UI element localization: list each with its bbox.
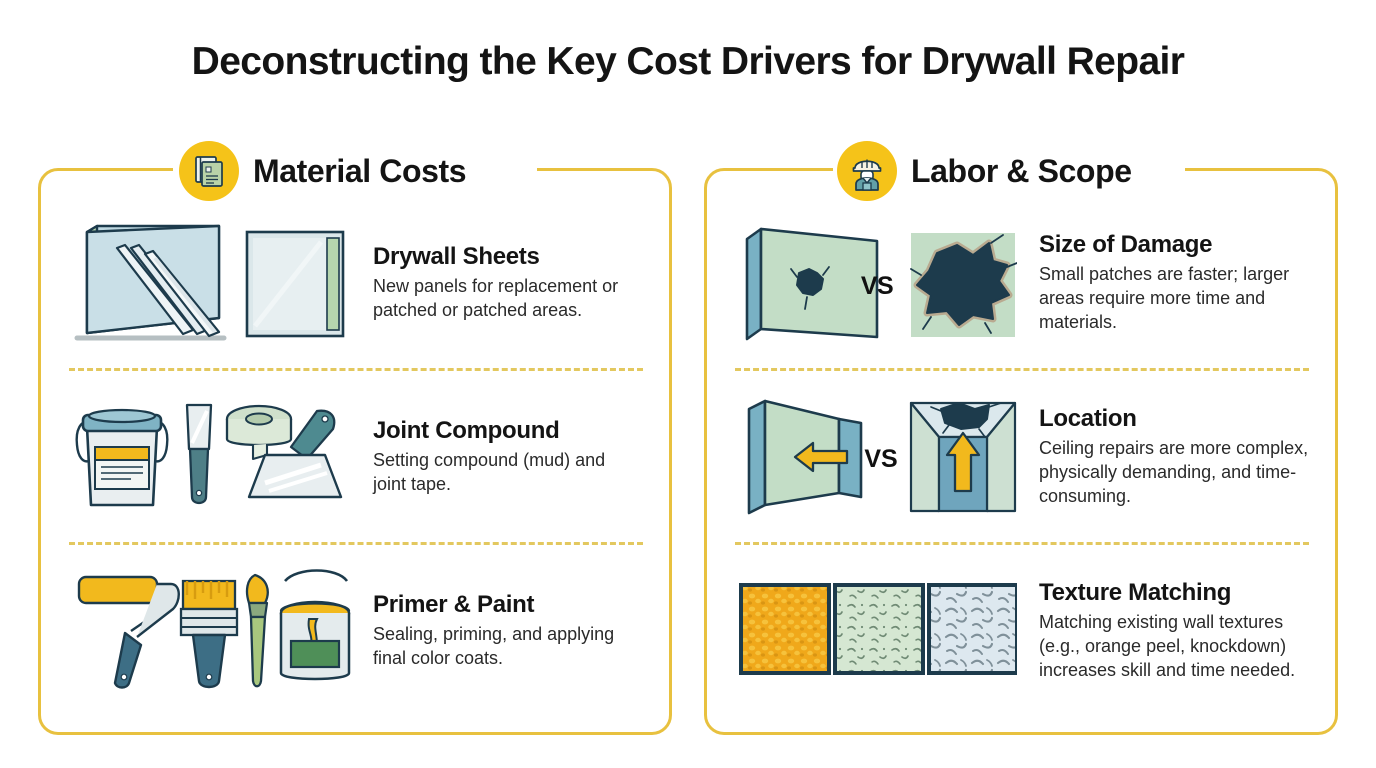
drywall-sheets-icon <box>65 219 355 347</box>
item-heading: Drywall Sheets <box>373 243 643 272</box>
item-heading: Primer & Paint <box>373 591 643 620</box>
panel-rows: Drywall Sheets New panels for replacemen… <box>41 197 669 716</box>
item-body: Small patches are faster; larger areas r… <box>1039 262 1309 334</box>
list-item-text: Drywall Sheets New panels for replacemen… <box>373 243 643 322</box>
damage-size-comparison-icon: VS <box>731 219 1021 347</box>
panel-labor-scope: Labor & Scope VS <box>704 168 1338 735</box>
svg-text:VS: VS <box>864 445 897 473</box>
item-body: Ceiling repairs are more complex, physic… <box>1039 436 1309 508</box>
worker-hardhat-icon <box>837 141 897 201</box>
item-body: Sealing, priming, and applying final col… <box>373 622 643 670</box>
list-item-text: Texture Matching Matching existing wall … <box>1039 579 1309 682</box>
primer-paint-icon <box>65 567 355 695</box>
list-item-text: Joint Compound Setting compound (mud) an… <box>373 417 643 496</box>
vs-label: VS <box>861 272 893 300</box>
item-body: Setting compound (mud) and joint tape. <box>373 448 643 496</box>
wall-vs-ceiling-icon: VS <box>731 393 1021 521</box>
panel-title: Labor & Scope <box>911 153 1132 190</box>
item-heading: Joint Compound <box>373 417 643 446</box>
stacked-panels-icon <box>179 141 239 201</box>
list-item-texture-matching: Texture Matching Matching existing wall … <box>707 545 1335 716</box>
list-item-text: Location Ceiling repairs are more comple… <box>1039 405 1309 508</box>
item-heading: Texture Matching <box>1039 579 1309 608</box>
list-item-size-of-damage: VS Size of Damage Small patches are fast… <box>707 197 1335 368</box>
item-body: New panels for replacement or patched or… <box>373 274 643 322</box>
panel-header-material-costs: Material Costs <box>179 136 466 206</box>
list-item-primer-paint: Primer & Paint Sealing, priming, and app… <box>41 545 669 716</box>
page-title: Deconstructing the Key Cost Drivers for … <box>0 40 1376 84</box>
list-item-joint-compound: Joint Compound Setting compound (mud) an… <box>41 371 669 542</box>
item-body: Matching existing wall textures (e.g., o… <box>1039 610 1309 682</box>
item-heading: Location <box>1039 405 1309 434</box>
joint-compound-icon <box>65 393 355 521</box>
item-heading: Size of Damage <box>1039 231 1309 260</box>
list-item-text: Size of Damage Small patches are faster;… <box>1039 231 1309 334</box>
list-item-drywall-sheets: Drywall Sheets New panels for replacemen… <box>41 197 669 368</box>
texture-swatches-icon <box>731 567 1021 695</box>
panel-title: Material Costs <box>253 153 466 190</box>
list-item-location: VS Location Ceiling repairs are more com… <box>707 371 1335 542</box>
panel-material-costs: Material Costs <box>38 168 672 735</box>
panel-rows: VS Size of Damage Small patches are fast… <box>707 197 1335 716</box>
list-item-text: Primer & Paint Sealing, priming, and app… <box>373 591 643 670</box>
panel-header-labor-scope: Labor & Scope <box>837 136 1132 206</box>
